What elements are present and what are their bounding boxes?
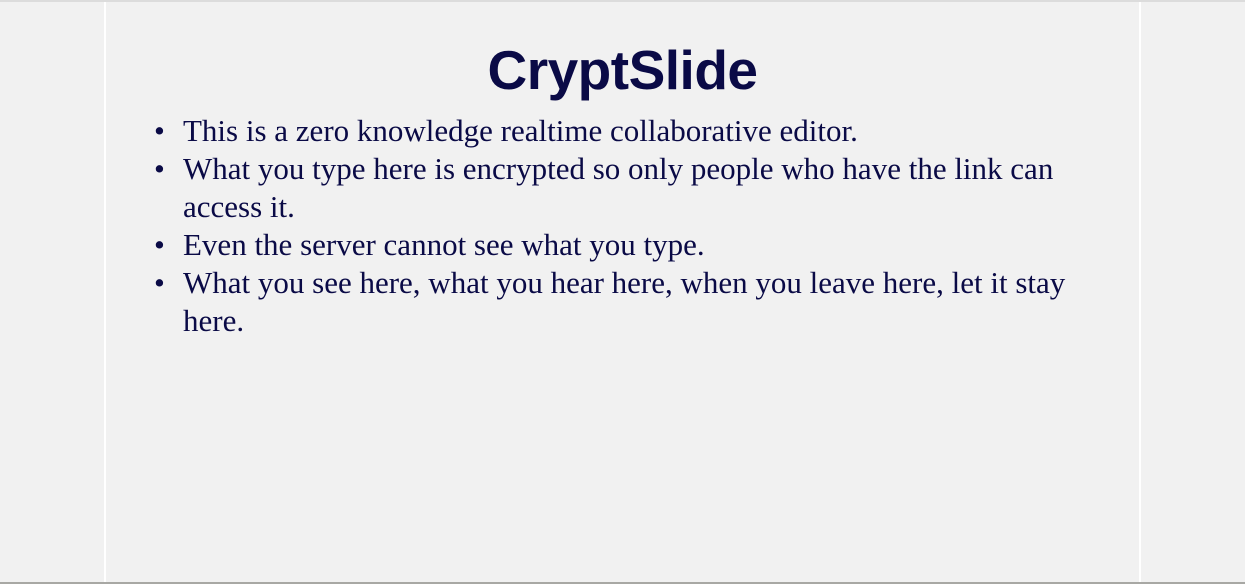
bullet-point-icon: • xyxy=(154,150,165,188)
slide-right-rule xyxy=(1139,2,1141,582)
bullet-point-icon: • xyxy=(154,264,165,302)
bullet-list-item-text: What you type here is encrypted so only … xyxy=(183,150,1097,226)
bullet-list-item[interactable]: • This is a zero knowledge realtime coll… xyxy=(152,112,1097,150)
bullet-list-item[interactable]: • What you see here, what you hear here,… xyxy=(152,264,1097,340)
slide-bullet-list[interactable]: • This is a zero knowledge realtime coll… xyxy=(106,112,1139,340)
bullet-list-item-text: What you see here, what you hear here, w… xyxy=(183,264,1097,340)
bullet-point-icon: • xyxy=(154,112,165,150)
slide-canvas[interactable]: CryptSlide • This is a zero knowledge re… xyxy=(106,2,1139,582)
bullet-list-item-text: This is a zero knowledge realtime collab… xyxy=(183,112,1097,150)
slide-title[interactable]: CryptSlide xyxy=(106,2,1139,98)
bullet-list-item[interactable]: • Even the server cannot see what you ty… xyxy=(152,226,1097,264)
bullet-list-item-text: Even the server cannot see what you type… xyxy=(183,226,1097,264)
bullet-list-item[interactable]: • What you type here is encrypted so onl… xyxy=(152,150,1097,226)
bullet-point-icon: • xyxy=(154,226,165,264)
app-surface: CryptSlide • This is a zero knowledge re… xyxy=(0,0,1245,584)
